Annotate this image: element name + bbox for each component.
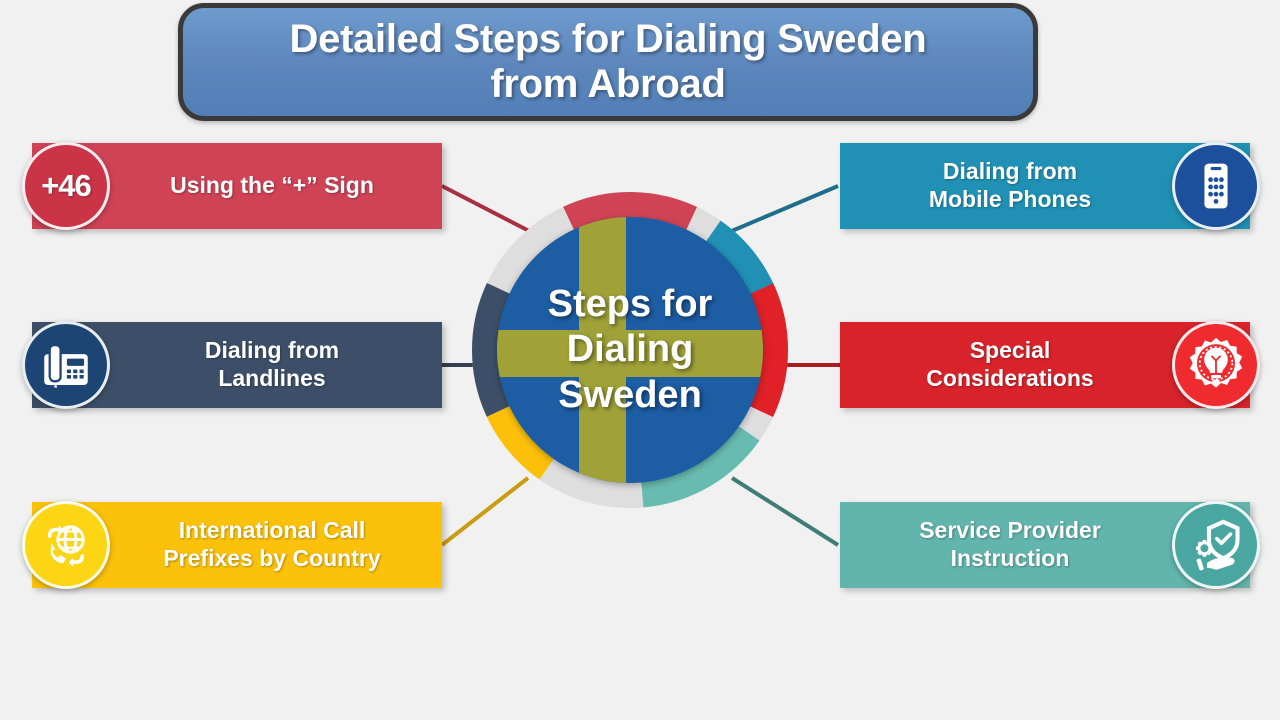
branch-dialing-from-landlines[interactable]: Dialing from Landlines bbox=[32, 322, 442, 408]
center-hub: Steps for Dialing Sweden bbox=[470, 190, 790, 510]
branch-label-line-1: Dialing from bbox=[205, 337, 339, 363]
page-title-banner: Detailed Steps for Dialing Sweden from A… bbox=[178, 3, 1038, 121]
branch-label-line-2: Landlines bbox=[218, 365, 325, 391]
mobile-phone-keypad-icon bbox=[1172, 142, 1260, 230]
branch-label-line-1: International Call bbox=[179, 517, 366, 543]
branch-label-line-1: Special bbox=[970, 337, 1051, 363]
branch-label-line-2: Considerations bbox=[926, 365, 1093, 391]
flag-cross-horizontal bbox=[497, 330, 763, 377]
branch-using-plus-sign[interactable]: +46 Using the “+” Sign bbox=[32, 143, 442, 229]
branch-label-line-1: Dialing from bbox=[943, 158, 1077, 184]
sweden-flag-icon bbox=[497, 217, 763, 483]
infographic-canvas: Detailed Steps for Dialing Sweden from A… bbox=[0, 0, 1280, 720]
shield-check-hand-icon bbox=[1172, 501, 1260, 589]
branch-international-call-prefixes[interactable]: International Call Prefixes by Country bbox=[32, 502, 442, 588]
branch-service-provider-instruction[interactable]: Service Provider Instruction bbox=[840, 502, 1250, 588]
plus-46-badge-icon: +46 bbox=[22, 142, 110, 230]
branch-label-line-2: Prefixes by Country bbox=[163, 545, 380, 571]
gear-lightbulb-icon bbox=[1172, 321, 1260, 409]
branch-special-considerations[interactable]: Special Considerations bbox=[840, 322, 1250, 408]
page-title: Detailed Steps for Dialing Sweden from A… bbox=[272, 17, 945, 107]
plus-46-badge-text: +46 bbox=[41, 168, 91, 204]
branch-label-line-1: Service Provider bbox=[919, 517, 1101, 543]
branch-label-line-2: Instruction bbox=[951, 545, 1070, 571]
globe-call-icon bbox=[22, 501, 110, 589]
landline-phone-icon bbox=[22, 321, 110, 409]
branch-dialing-from-mobile-phones[interactable]: Dialing from Mobile Phones bbox=[840, 143, 1250, 229]
branch-label-line-2: Mobile Phones bbox=[929, 186, 1091, 212]
page-title-line-1: Detailed Steps for Dialing Sweden bbox=[290, 17, 927, 61]
page-title-line-2: from Abroad bbox=[490, 62, 725, 106]
